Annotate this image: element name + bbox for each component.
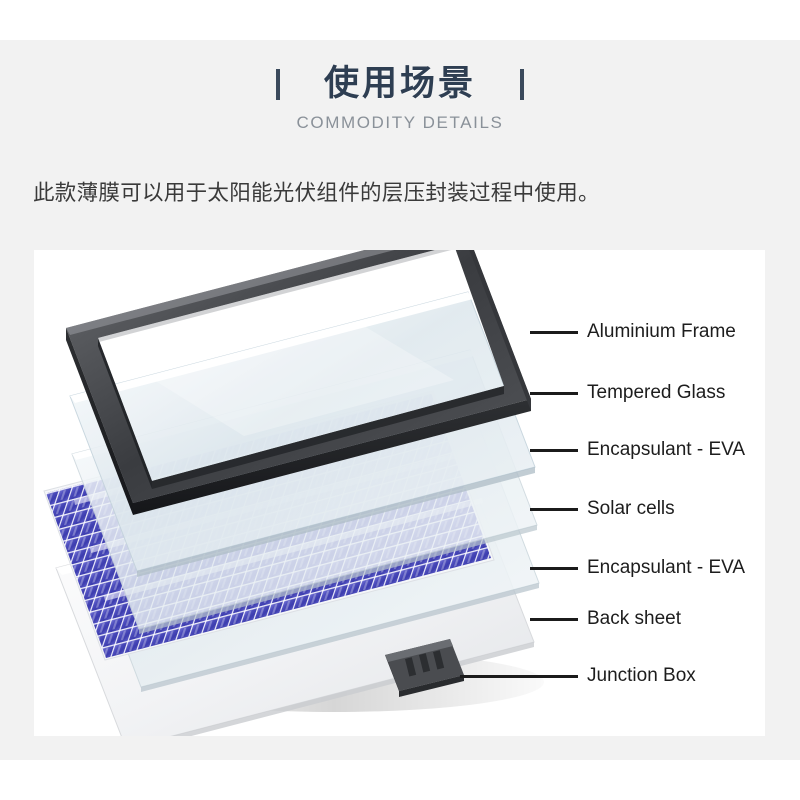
callout-label: Encapsulant - EVA	[587, 439, 745, 461]
title-left-tick-icon	[276, 69, 280, 100]
callout-label: Back sheet	[587, 608, 681, 630]
callout-label: Aluminium Frame	[587, 321, 736, 343]
callout-label: Tempered Glass	[587, 382, 725, 404]
callout-label: Solar cells	[587, 498, 675, 520]
callout-back-sheet[interactable]: Back sheet	[530, 608, 681, 630]
callout-junction-box[interactable]: Junction Box	[460, 665, 696, 687]
callout-aluminium-frame[interactable]: Aluminium Frame	[530, 321, 736, 343]
product-detail-page: 使用场景 COMMODITY DETAILS 此款薄膜可以用于太阳能光伏组件的层…	[0, 0, 800, 800]
description-text: 此款薄膜可以用于太阳能光伏组件的层压封装过程中使用。	[33, 178, 773, 208]
leader-line-icon	[530, 449, 578, 452]
callout-label: Junction Box	[587, 665, 696, 687]
callout-label: Encapsulant - EVA	[587, 557, 745, 579]
leader-line-icon	[530, 618, 578, 621]
page-subtitle: COMMODITY DETAILS	[0, 113, 800, 133]
leader-line-icon	[530, 392, 578, 395]
leader-line-icon	[530, 508, 578, 511]
title-row: 使用场景	[0, 62, 800, 106]
leader-line-icon	[460, 675, 578, 678]
callout-encapsulant-eva-lower[interactable]: Encapsulant - EVA	[530, 557, 745, 579]
leader-line-icon	[530, 567, 578, 570]
title-right-tick-icon	[520, 69, 524, 100]
callout-solar-cells[interactable]: Solar cells	[530, 498, 675, 520]
illustration-card: Aluminium Frame Tempered Glass Encapsula…	[34, 250, 765, 736]
callout-encapsulant-eva-upper[interactable]: Encapsulant - EVA	[530, 439, 745, 461]
section-header: 使用场景 COMMODITY DETAILS	[0, 62, 800, 133]
callout-tempered-glass[interactable]: Tempered Glass	[530, 382, 725, 404]
leader-line-icon	[530, 331, 578, 334]
page-title: 使用场景	[324, 62, 476, 106]
